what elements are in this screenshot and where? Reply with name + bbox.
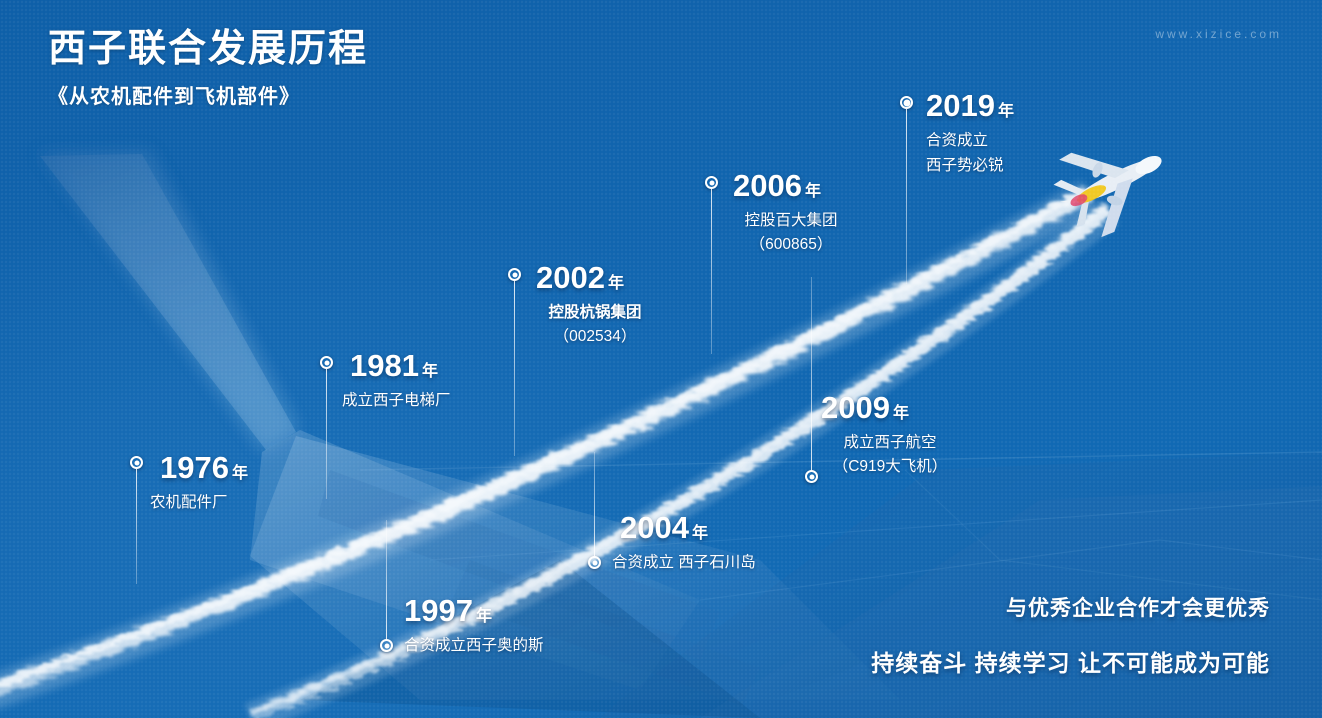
page-subtitle: 《从农机配件到飞机部件》 [48,80,368,109]
milestone-year: 1997年 [404,595,544,626]
milestone-desc-line2: （C919大飞机） [815,456,965,478]
page-title: 西子联合发展历程 [48,30,368,70]
marker-dot-icon[interactable] [588,556,601,569]
milestone-year: 2009年 [821,392,965,423]
milestone-year-value: 1981 [350,348,419,383]
watermark: www.xizice.com [1155,27,1282,41]
milestone-1997[interactable]: 1997年 合资成立西子奥的斯 [380,595,544,657]
milestone-2019[interactable]: 2019年 合资成立 西子势必锐 [900,90,1014,178]
milestone-year-value: 1976 [160,450,229,485]
marker-dot-icon[interactable] [320,356,333,369]
connector-line [811,277,812,472]
milestone-desc-line2: 西子势必锐 [926,155,1014,177]
milestone-year-value: 2002 [536,260,605,295]
milestone-year: 2002年 [536,262,660,293]
milestone-year-value: 2004 [620,510,689,545]
milestone-desc-line2: （002534） [530,326,660,348]
milestone-desc-line1: 合资成立 西子石川岛 [612,552,756,574]
marker-dot-icon[interactable] [900,96,913,109]
milestone-2009[interactable]: 2009年 成立西子航空 （C919大飞机） [805,392,965,479]
milestone-year: 2006年 [733,170,857,201]
marker-dot-icon[interactable] [380,639,393,652]
milestone-year: 1981年 [350,350,451,381]
milestone-year: 2019年 [926,90,1014,121]
milestone-1981[interactable]: 1981年 成立西子电梯厂 [320,350,451,412]
connector-line [514,281,515,456]
connector-line [386,520,387,640]
milestone-year-suffix: 年 [805,183,821,200]
milestone-desc-line1: 农机配件厂 [150,492,248,514]
connector-line [136,469,137,584]
milestone-desc-line1: 合资成立西子奥的斯 [404,635,544,657]
connector-line [326,369,327,499]
connector-line [711,189,712,354]
milestone-year-value: 2006 [733,168,802,203]
connector-line [594,452,595,557]
milestone-desc-line2: （600865） [725,234,857,256]
milestone-year: 2004年 [620,512,756,543]
connector-line [906,109,907,284]
milestone-year: 1976年 [160,452,248,483]
slogan-secondary: 持续奋斗 持续学习 让不可能成为可能 [871,644,1270,678]
milestone-year-suffix: 年 [893,405,909,422]
milestone-year-suffix: 年 [608,275,624,292]
infographic-canvas: 西子联合发展历程 《从农机配件到飞机部件》 www.xizice.com 197… [0,0,1322,718]
milestone-year-value: 2009 [821,390,890,425]
title-block: 西子联合发展历程 《从农机配件到飞机部件》 [48,30,368,109]
milestone-1976[interactable]: 1976年 农机配件厂 [130,452,248,514]
milestone-2002[interactable]: 2002年 控股杭锅集团 （002534） [508,262,660,349]
slogan-primary: 与优秀企业合作才会更优秀 [871,592,1270,622]
milestone-year-value: 1997 [404,593,473,628]
milestone-year-suffix: 年 [692,525,708,542]
milestone-desc-line1: 成立西子电梯厂 [342,390,451,412]
milestone-desc-line1: 合资成立 [926,130,1014,152]
milestone-year-suffix: 年 [232,465,248,482]
milestone-year-suffix: 年 [422,363,438,380]
milestone-desc-line1: 控股百大集团 [725,210,857,232]
milestone-year-suffix: 年 [476,608,492,625]
marker-dot-icon[interactable] [130,456,143,469]
milestone-desc-line1: 控股杭锅集团 [530,302,660,324]
milestone-year-value: 2019 [926,88,995,123]
marker-dot-icon[interactable] [705,176,718,189]
milestone-2004[interactable]: 2004年 合资成立 西子石川岛 [588,512,756,574]
milestone-year-suffix: 年 [998,103,1014,120]
slogan-block: 与优秀企业合作才会更优秀 持续奋斗 持续学习 让不可能成为可能 [871,592,1270,678]
marker-dot-icon[interactable] [508,268,521,281]
milestone-desc-line1: 成立西子航空 [815,432,965,454]
milestone-2006[interactable]: 2006年 控股百大集团 （600865） [705,170,857,257]
